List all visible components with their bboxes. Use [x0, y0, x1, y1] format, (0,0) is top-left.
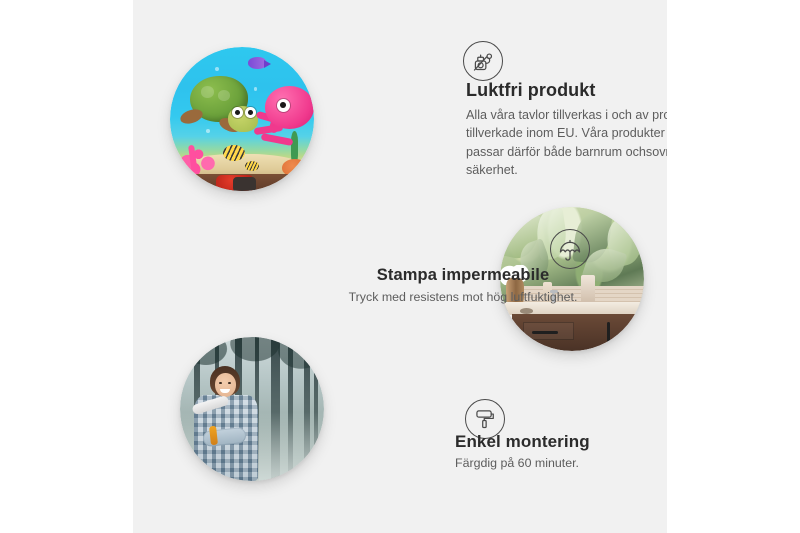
- woman-eye-left: [219, 382, 222, 384]
- feature-description: Färgdig på 60 minuter.: [455, 454, 667, 472]
- yellow-striped-fish-small: [245, 161, 259, 171]
- turtle-eye-right: [245, 107, 256, 118]
- yellow-striped-fish: [223, 145, 245, 161]
- feature-image-easy-mounting: [180, 337, 324, 481]
- octopus-head: [265, 86, 314, 129]
- bubble: [206, 129, 210, 133]
- promo-feature-page: Luktfri produkt Alla våra tavlor tillver…: [0, 0, 800, 533]
- turtle-eye-left: [232, 107, 243, 118]
- feature-description: Tryck med resistens mot hög luftfuktighe…: [328, 288, 598, 306]
- feature-title: Enkel montering: [455, 432, 667, 452]
- cabinet-handle: [607, 322, 611, 342]
- feature-image-odour-free: [170, 47, 314, 191]
- woman-forest-photo: [180, 337, 324, 481]
- feature-text-waterproof: Stampa impermeabile Tryck med resistens …: [328, 266, 598, 306]
- feature-title: Stampa impermeabile: [328, 266, 598, 285]
- no-fragrance-icon: [463, 41, 503, 81]
- forest-canopy: [180, 337, 324, 403]
- feature-text-easy-mounting: Enkel montering Färgdig på 60 minuter.: [455, 432, 667, 472]
- purple-fish: [248, 57, 267, 69]
- umbrella-icon: [550, 229, 590, 269]
- foreground-dark-object: [233, 177, 256, 191]
- feature-description: Alla våra tavlor tillverkas i och av pro…: [466, 106, 667, 180]
- pink-coral: [177, 136, 220, 173]
- underwater-scene-illustration: [170, 47, 314, 191]
- drawer-handle: [532, 331, 558, 335]
- feature-title: Luktfri produkt: [466, 80, 667, 101]
- feature-text-odour-free: Luktfri produkt Alla våra tavlor tillver…: [466, 80, 667, 180]
- content-panel: Luktfri produkt Alla våra tavlor tillver…: [133, 0, 667, 533]
- octopus-eye: [277, 99, 290, 112]
- bubble: [254, 87, 257, 90]
